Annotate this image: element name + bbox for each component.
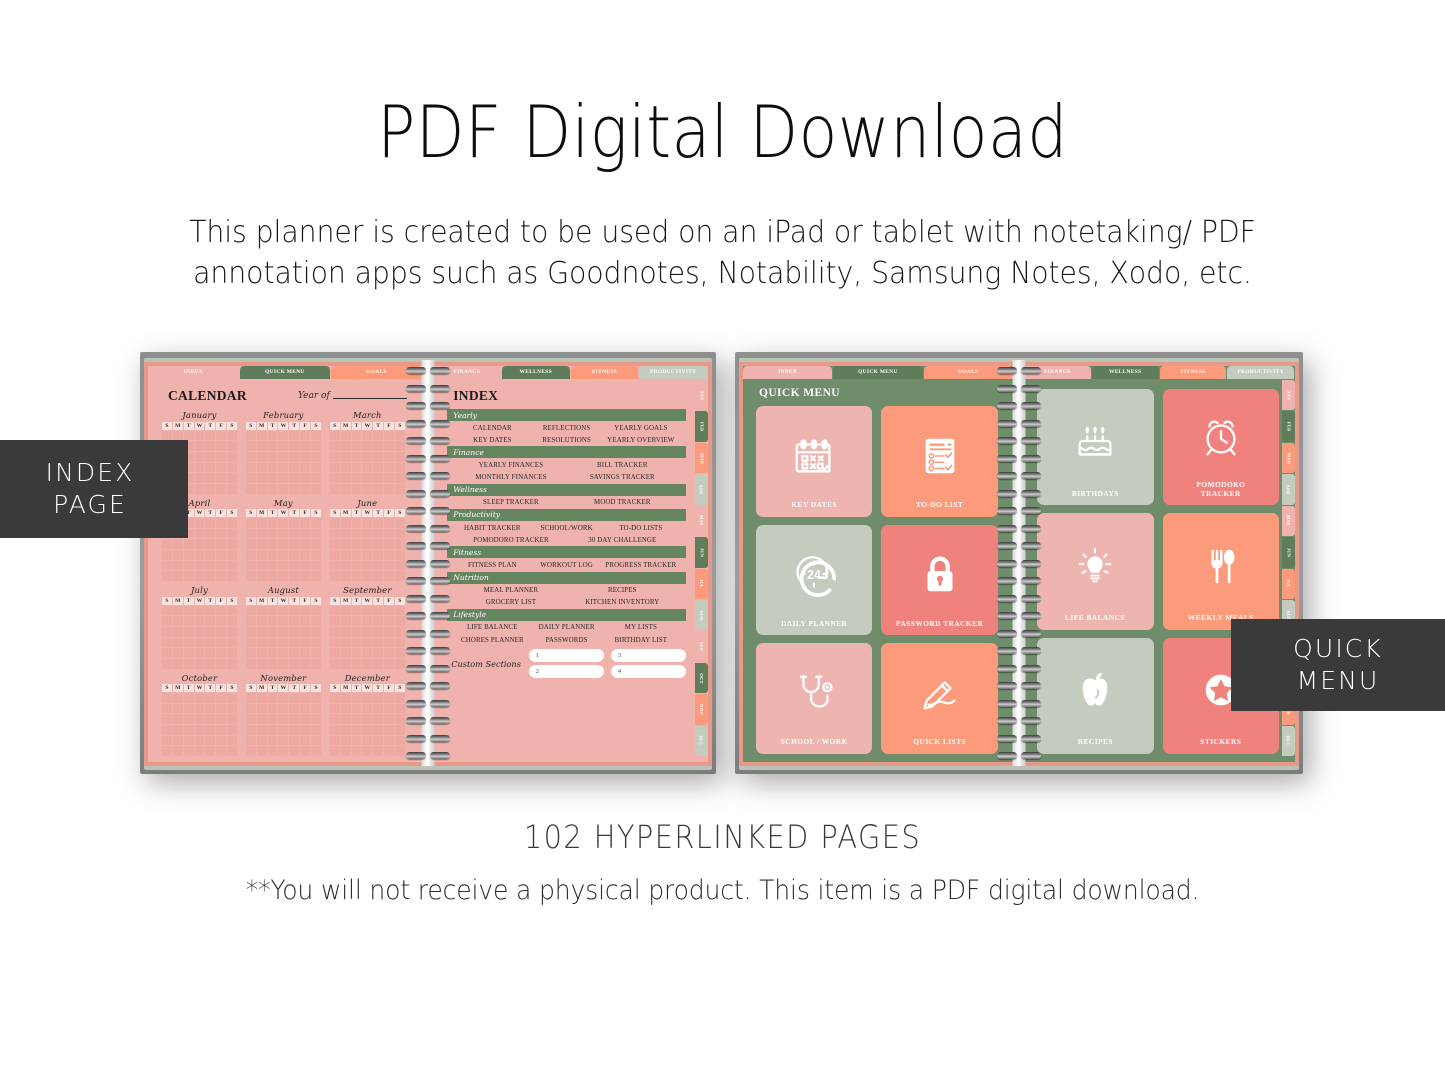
calendar-day-cell[interactable]: [384, 648, 394, 658]
calendar-day-cell[interactable]: [311, 550, 321, 560]
index-link[interactable]: 30 DAY CHALLENGE: [567, 537, 678, 544]
calendar-day-cell[interactable]: [205, 627, 215, 637]
calendar-day-cell[interactable]: [362, 736, 372, 746]
calendar-day-cell[interactable]: [257, 473, 267, 483]
calendar-day-cell[interactable]: [395, 473, 405, 483]
calendar-day-cell[interactable]: [184, 571, 194, 581]
calendar-day-cell[interactable]: [278, 441, 288, 451]
calendar-day-cell[interactable]: [373, 561, 383, 571]
calendar-day-cell[interactable]: [352, 484, 362, 494]
calendar-day-cell[interactable]: [268, 518, 278, 528]
index-link[interactable]: MONTHLY FINANCES: [455, 474, 566, 481]
top-tab-productivity[interactable]: PRODUCTIVITY: [1227, 366, 1294, 379]
calendar-day-cell[interactable]: [184, 736, 194, 746]
calendar-day-cell[interactable]: [384, 736, 394, 746]
calendar-day-cell[interactable]: [311, 693, 321, 703]
index-link[interactable]: MY LISTS: [604, 624, 678, 631]
calendar-day-cell[interactable]: [341, 484, 351, 494]
calendar-day-cell[interactable]: [289, 561, 299, 571]
calendar-day-cell[interactable]: [184, 539, 194, 549]
index-link[interactable]: YEARLY OVERVIEW: [604, 437, 678, 444]
calendar-day-cell[interactable]: [195, 539, 205, 549]
calendar-day-cell[interactable]: [395, 659, 405, 669]
month-tab-feb[interactable]: FEB: [695, 411, 708, 441]
calendar-day-cell[interactable]: [162, 693, 172, 703]
calendar-day-cell[interactable]: [227, 571, 237, 581]
calendar-day-cell[interactable]: [352, 518, 362, 528]
calendar-day-cell[interactable]: [373, 736, 383, 746]
calendar-day-cell[interactable]: [246, 539, 256, 549]
calendar-day-cell[interactable]: [195, 561, 205, 571]
calendar-day-cell[interactable]: [216, 725, 226, 735]
calendar-day-cell[interactable]: [205, 518, 215, 528]
calendar-day-cell[interactable]: [384, 550, 394, 560]
calendar-day-cell[interactable]: [205, 725, 215, 735]
calendar-day-cell[interactable]: [227, 714, 237, 724]
calendar-day-cell[interactable]: [268, 659, 278, 669]
index-link[interactable]: KITCHEN INVENTORY: [567, 599, 678, 606]
month-block-october[interactable]: OctoberSMTWTFS: [162, 673, 237, 757]
calendar-day-cell[interactable]: [289, 648, 299, 658]
calendar-day-cell[interactable]: [184, 627, 194, 637]
calendar-day-cell[interactable]: [268, 648, 278, 658]
calendar-day-cell[interactable]: [300, 539, 310, 549]
calendar-day-cell[interactable]: [352, 441, 362, 451]
calendar-day-cell[interactable]: [330, 441, 340, 451]
calendar-day-cell[interactable]: [311, 463, 321, 473]
calendar-day-cell[interactable]: [216, 518, 226, 528]
calendar-day-cell[interactable]: [278, 561, 288, 571]
calendar-day-cell[interactable]: [227, 736, 237, 746]
calendar-day-cell[interactable]: [205, 606, 215, 616]
calendar-day-cell[interactable]: [352, 638, 362, 648]
calendar-day-cell[interactable]: [373, 473, 383, 483]
calendar-day-cell[interactable]: [362, 627, 372, 637]
calendar-day-cell[interactable]: [195, 736, 205, 746]
calendar-day-cell[interactable]: [268, 529, 278, 539]
calendar-day-cell[interactable]: [384, 484, 394, 494]
calendar-day-cell[interactable]: [278, 484, 288, 494]
index-link[interactable]: FITNESS PLAN: [455, 562, 529, 569]
calendar-day-cell[interactable]: [311, 746, 321, 756]
quick-menu-tile-daily-planner[interactable]: 24DAILY PLANNER: [756, 525, 872, 636]
calendar-day-cell[interactable]: [268, 627, 278, 637]
calendar-day-cell[interactable]: [289, 736, 299, 746]
calendar-day-cell[interactable]: [289, 616, 299, 626]
calendar-day-cell[interactable]: [216, 616, 226, 626]
calendar-day-cell[interactable]: [395, 736, 405, 746]
calendar-day-cell[interactable]: [216, 638, 226, 648]
calendar-day-cell[interactable]: [227, 463, 237, 473]
calendar-day-cell[interactable]: [341, 529, 351, 539]
calendar-day-cell[interactable]: [330, 725, 340, 735]
calendar-day-cell[interactable]: [205, 463, 215, 473]
index-link[interactable]: CHORES PLANNER: [455, 637, 529, 644]
calendar-day-cell[interactable]: [195, 638, 205, 648]
calendar-day-cell[interactable]: [352, 736, 362, 746]
calendar-day-cell[interactable]: [341, 736, 351, 746]
calendar-day-cell[interactable]: [311, 518, 321, 528]
calendar-day-cell[interactable]: [268, 452, 278, 462]
calendar-day-cell[interactable]: [373, 659, 383, 669]
calendar-day-cell[interactable]: [246, 529, 256, 539]
calendar-day-cell[interactable]: [352, 550, 362, 560]
calendar-day-cell[interactable]: [227, 431, 237, 441]
calendar-day-cell[interactable]: [278, 606, 288, 616]
calendar-day-cell[interactable]: [362, 529, 372, 539]
calendar-day-cell[interactable]: [384, 463, 394, 473]
calendar-day-cell[interactable]: [184, 725, 194, 735]
calendar-day-cell[interactable]: [278, 725, 288, 735]
calendar-day-cell[interactable]: [362, 725, 372, 735]
calendar-day-cell[interactable]: [373, 638, 383, 648]
calendar-day-cell[interactable]: [246, 693, 256, 703]
calendar-day-cell[interactable]: [362, 518, 372, 528]
calendar-day-cell[interactable]: [330, 736, 340, 746]
calendar-day-cell[interactable]: [384, 539, 394, 549]
calendar-day-cell[interactable]: [246, 616, 256, 626]
calendar-day-cell[interactable]: [352, 627, 362, 637]
mini-calendar[interactable]: SMTWTFS: [330, 422, 405, 494]
calendar-day-cell[interactable]: [300, 550, 310, 560]
calendar-day-cell[interactable]: [184, 693, 194, 703]
calendar-day-cell[interactable]: [173, 725, 183, 735]
calendar-day-cell[interactable]: [362, 693, 372, 703]
calendar-day-cell[interactable]: [216, 539, 226, 549]
calendar-day-cell[interactable]: [162, 704, 172, 714]
calendar-day-cell[interactable]: [216, 473, 226, 483]
calendar-day-cell[interactable]: [257, 659, 267, 669]
top-tab-productivity[interactable]: PRODUCTIVITY: [639, 366, 707, 379]
calendar-day-cell[interactable]: [300, 431, 310, 441]
calendar-day-cell[interactable]: [195, 529, 205, 539]
calendar-day-cell[interactable]: [395, 704, 405, 714]
calendar-day-cell[interactable]: [216, 452, 226, 462]
calendar-day-cell[interactable]: [300, 616, 310, 626]
calendar-day-cell[interactable]: [162, 638, 172, 648]
calendar-day-cell[interactable]: [173, 627, 183, 637]
calendar-day-cell[interactable]: [216, 746, 226, 756]
calendar-day-cell[interactable]: [173, 431, 183, 441]
calendar-day-cell[interactable]: [257, 638, 267, 648]
calendar-day-cell[interactable]: [205, 648, 215, 658]
calendar-day-cell[interactable]: [373, 693, 383, 703]
calendar-day-cell[interactable]: [173, 571, 183, 581]
calendar-day-cell[interactable]: [278, 746, 288, 756]
calendar-day-cell[interactable]: [352, 616, 362, 626]
month-tab-apr[interactable]: APR: [1282, 474, 1295, 504]
calendar-day-cell[interactable]: [289, 473, 299, 483]
calendar-day-cell[interactable]: [173, 550, 183, 560]
calendar-day-cell[interactable]: [311, 539, 321, 549]
calendar-day-cell[interactable]: [278, 627, 288, 637]
calendar-day-cell[interactable]: [257, 736, 267, 746]
calendar-day-cell[interactable]: [311, 431, 321, 441]
index-link[interactable]: GROCERY LIST: [455, 599, 566, 606]
calendar-day-cell[interactable]: [341, 746, 351, 756]
calendar-day-cell[interactable]: [216, 431, 226, 441]
calendar-day-cell[interactable]: [162, 627, 172, 637]
calendar-day-cell[interactable]: [205, 529, 215, 539]
calendar-day-cell[interactable]: [216, 659, 226, 669]
calendar-day-cell[interactable]: [173, 746, 183, 756]
mini-calendar[interactable]: SMTWTFS: [162, 597, 237, 669]
calendar-day-cell[interactable]: [195, 571, 205, 581]
calendar-day-cell[interactable]: [216, 648, 226, 658]
index-link[interactable]: MEAL PLANNER: [455, 587, 566, 594]
calendar-day-cell[interactable]: [246, 627, 256, 637]
calendar-day-cell[interactable]: [289, 746, 299, 756]
calendar-day-cell[interactable]: [184, 659, 194, 669]
calendar-day-cell[interactable]: [311, 704, 321, 714]
calendar-day-cell[interactable]: [205, 539, 215, 549]
calendar-day-cell[interactable]: [289, 550, 299, 560]
calendar-day-cell[interactable]: [311, 638, 321, 648]
calendar-day-cell[interactable]: [246, 473, 256, 483]
calendar-day-cell[interactable]: [278, 648, 288, 658]
mini-calendar[interactable]: SMTWTFS: [246, 597, 321, 669]
calendar-day-cell[interactable]: [362, 648, 372, 658]
calendar-day-cell[interactable]: [352, 529, 362, 539]
calendar-day-cell[interactable]: [216, 736, 226, 746]
calendar-day-cell[interactable]: [311, 452, 321, 462]
calendar-day-cell[interactable]: [300, 714, 310, 724]
quick-menu-tile-life-balance[interactable]: LIFE BALANCE: [1037, 513, 1153, 629]
calendar-day-cell[interactable]: [395, 561, 405, 571]
calendar-day-cell[interactable]: [395, 616, 405, 626]
custom-section-field[interactable]: 3: [611, 649, 686, 662]
calendar-day-cell[interactable]: [341, 431, 351, 441]
calendar-day-cell[interactable]: [395, 606, 405, 616]
index-link[interactable]: YEARLY FINANCES: [455, 462, 566, 469]
index-link[interactable]: PASSWORDS: [529, 637, 603, 644]
calendar-day-cell[interactable]: [384, 473, 394, 483]
calendar-day-cell[interactable]: [268, 473, 278, 483]
calendar-day-cell[interactable]: [205, 659, 215, 669]
calendar-day-cell[interactable]: [278, 539, 288, 549]
calendar-day-cell[interactable]: [362, 616, 372, 626]
calendar-day-cell[interactable]: [330, 746, 340, 756]
calendar-day-cell[interactable]: [352, 473, 362, 483]
calendar-day-cell[interactable]: [216, 529, 226, 539]
calendar-day-cell[interactable]: [268, 431, 278, 441]
calendar-day-cell[interactable]: [278, 571, 288, 581]
calendar-day-cell[interactable]: [257, 518, 267, 528]
calendar-day-cell[interactable]: [227, 648, 237, 658]
calendar-day-cell[interactable]: [289, 659, 299, 669]
calendar-day-cell[interactable]: [341, 627, 351, 637]
calendar-day-cell[interactable]: [341, 571, 351, 581]
calendar-day-cell[interactable]: [330, 431, 340, 441]
calendar-day-cell[interactable]: [227, 746, 237, 756]
year-of-field[interactable]: Year of: [298, 391, 407, 401]
calendar-day-cell[interactable]: [268, 725, 278, 735]
calendar-day-cell[interactable]: [362, 452, 372, 462]
calendar-day-cell[interactable]: [162, 659, 172, 669]
calendar-day-cell[interactable]: [384, 606, 394, 616]
calendar-day-cell[interactable]: [384, 561, 394, 571]
calendar-day-cell[interactable]: [195, 704, 205, 714]
calendar-day-cell[interactable]: [300, 693, 310, 703]
calendar-day-cell[interactable]: [162, 539, 172, 549]
calendar-day-cell[interactable]: [300, 571, 310, 581]
calendar-day-cell[interactable]: [330, 606, 340, 616]
calendar-day-cell[interactable]: [352, 606, 362, 616]
calendar-day-cell[interactable]: [216, 714, 226, 724]
index-link[interactable]: MOOD TRACKER: [567, 499, 678, 506]
calendar-day-cell[interactable]: [341, 518, 351, 528]
custom-section-field[interactable]: 1: [529, 649, 604, 662]
calendar-day-cell[interactable]: [195, 616, 205, 626]
calendar-day-cell[interactable]: [373, 441, 383, 451]
calendar-day-cell[interactable]: [289, 539, 299, 549]
calendar-day-cell[interactable]: [257, 441, 267, 451]
calendar-day-cell[interactable]: [246, 441, 256, 451]
calendar-day-cell[interactable]: [341, 452, 351, 462]
calendar-day-cell[interactable]: [184, 648, 194, 658]
calendar-day-cell[interactable]: [300, 659, 310, 669]
calendar-day-cell[interactable]: [195, 746, 205, 756]
calendar-day-cell[interactable]: [195, 627, 205, 637]
calendar-day-cell[interactable]: [195, 431, 205, 441]
calendar-day-cell[interactable]: [184, 714, 194, 724]
calendar-day-cell[interactable]: [195, 693, 205, 703]
calendar-day-cell[interactable]: [362, 746, 372, 756]
calendar-day-cell[interactable]: [162, 561, 172, 571]
month-tab-jan[interactable]: JAN: [1282, 380, 1295, 410]
calendar-day-cell[interactable]: [289, 627, 299, 637]
calendar-day-cell[interactable]: [352, 746, 362, 756]
index-link[interactable]: DAILY PLANNER: [529, 624, 603, 631]
calendar-day-cell[interactable]: [330, 714, 340, 724]
calendar-day-cell[interactable]: [384, 452, 394, 462]
calendar-day-cell[interactable]: [330, 529, 340, 539]
calendar-day-cell[interactable]: [330, 659, 340, 669]
calendar-day-cell[interactable]: [300, 529, 310, 539]
index-link[interactable]: BIRTHDAY LIST: [604, 637, 678, 644]
calendar-day-cell[interactable]: [352, 659, 362, 669]
calendar-day-cell[interactable]: [289, 484, 299, 494]
calendar-day-cell[interactable]: [289, 714, 299, 724]
calendar-day-cell[interactable]: [278, 550, 288, 560]
calendar-day-cell[interactable]: [278, 638, 288, 648]
month-tab-jun[interactable]: JUN: [1282, 537, 1295, 567]
calendar-day-cell[interactable]: [227, 561, 237, 571]
calendar-day-cell[interactable]: [257, 539, 267, 549]
calendar-day-cell[interactable]: [330, 539, 340, 549]
calendar-day-cell[interactable]: [246, 571, 256, 581]
calendar-day-cell[interactable]: [341, 659, 351, 669]
calendar-day-cell[interactable]: [246, 606, 256, 616]
quick-menu-tile-school-work[interactable]: SCHOOL / WORK: [756, 643, 872, 754]
calendar-day-cell[interactable]: [352, 539, 362, 549]
calendar-day-cell[interactable]: [384, 746, 394, 756]
calendar-day-cell[interactable]: [246, 736, 256, 746]
calendar-day-cell[interactable]: [257, 463, 267, 473]
calendar-day-cell[interactable]: [173, 736, 183, 746]
calendar-day-cell[interactable]: [373, 616, 383, 626]
calendar-day-cell[interactable]: [384, 518, 394, 528]
top-tab-wellness[interactable]: WELLNESS: [502, 366, 570, 379]
month-block-november[interactable]: NovemberSMTWTFS: [246, 673, 321, 757]
calendar-day-cell[interactable]: [257, 550, 267, 560]
calendar-day-cell[interactable]: [216, 550, 226, 560]
calendar-day-cell[interactable]: [278, 659, 288, 669]
calendar-day-cell[interactable]: [384, 529, 394, 539]
calendar-day-cell[interactable]: [173, 616, 183, 626]
calendar-day-cell[interactable]: [246, 648, 256, 658]
calendar-day-cell[interactable]: [300, 463, 310, 473]
calendar-day-cell[interactable]: [195, 441, 205, 451]
calendar-day-cell[interactable]: [216, 484, 226, 494]
calendar-day-cell[interactable]: [373, 648, 383, 658]
index-link[interactable]: YEARLY GOALS: [604, 425, 678, 432]
calendar-day-cell[interactable]: [268, 484, 278, 494]
calendar-day-cell[interactable]: [227, 539, 237, 549]
calendar-day-cell[interactable]: [246, 714, 256, 724]
month-block-february[interactable]: FebruarySMTWTFS: [246, 410, 321, 494]
top-tab-fitness[interactable]: FITNESS: [1160, 366, 1227, 379]
month-block-june[interactable]: JuneSMTWTFS: [330, 498, 405, 582]
mini-calendar[interactable]: SMTWTFS: [246, 509, 321, 581]
calendar-day-cell[interactable]: [311, 659, 321, 669]
calendar-day-cell[interactable]: [184, 704, 194, 714]
calendar-day-cell[interactable]: [352, 693, 362, 703]
calendar-day-cell[interactable]: [195, 518, 205, 528]
index-link[interactable]: PROGRESS TRACKER: [604, 562, 678, 569]
calendar-day-cell[interactable]: [289, 638, 299, 648]
calendar-day-cell[interactable]: [257, 529, 267, 539]
index-link[interactable]: SCHOOL/WORK: [529, 525, 603, 532]
calendar-day-cell[interactable]: [278, 736, 288, 746]
calendar-day-cell[interactable]: [184, 746, 194, 756]
calendar-day-cell[interactable]: [173, 606, 183, 616]
calendar-day-cell[interactable]: [205, 441, 215, 451]
calendar-day-cell[interactable]: [227, 529, 237, 539]
calendar-day-cell[interactable]: [278, 518, 288, 528]
month-tab-may[interactable]: MAY: [1282, 506, 1295, 536]
calendar-day-cell[interactable]: [341, 463, 351, 473]
calendar-day-cell[interactable]: [330, 571, 340, 581]
calendar-day-cell[interactable]: [362, 606, 372, 616]
calendar-day-cell[interactable]: [362, 714, 372, 724]
calendar-day-cell[interactable]: [311, 484, 321, 494]
month-tab-jun[interactable]: JUN: [695, 537, 708, 567]
calendar-day-cell[interactable]: [289, 431, 299, 441]
calendar-day-cell[interactable]: [173, 638, 183, 648]
month-tab-sep[interactable]: SEP: [695, 631, 708, 661]
calendar-day-cell[interactable]: [173, 659, 183, 669]
calendar-day-cell[interactable]: [373, 704, 383, 714]
month-block-july[interactable]: JulySMTWTFS: [162, 585, 237, 669]
calendar-day-cell[interactable]: [373, 606, 383, 616]
calendar-day-cell[interactable]: [384, 627, 394, 637]
calendar-day-cell[interactable]: [162, 550, 172, 560]
calendar-day-cell[interactable]: [246, 638, 256, 648]
calendar-day-cell[interactable]: [257, 431, 267, 441]
month-tab-dec[interactable]: DEC: [1282, 726, 1295, 756]
calendar-day-cell[interactable]: [362, 463, 372, 473]
calendar-day-cell[interactable]: [300, 627, 310, 637]
calendar-day-cell[interactable]: [173, 693, 183, 703]
month-block-december[interactable]: DecemberSMTWTFS: [330, 673, 405, 757]
calendar-day-cell[interactable]: [395, 550, 405, 560]
calendar-day-cell[interactable]: [362, 441, 372, 451]
calendar-day-cell[interactable]: [216, 627, 226, 637]
top-tab-index[interactable]: INDEX: [148, 366, 239, 379]
calendar-day-cell[interactable]: [184, 616, 194, 626]
calendar-day-cell[interactable]: [216, 704, 226, 714]
